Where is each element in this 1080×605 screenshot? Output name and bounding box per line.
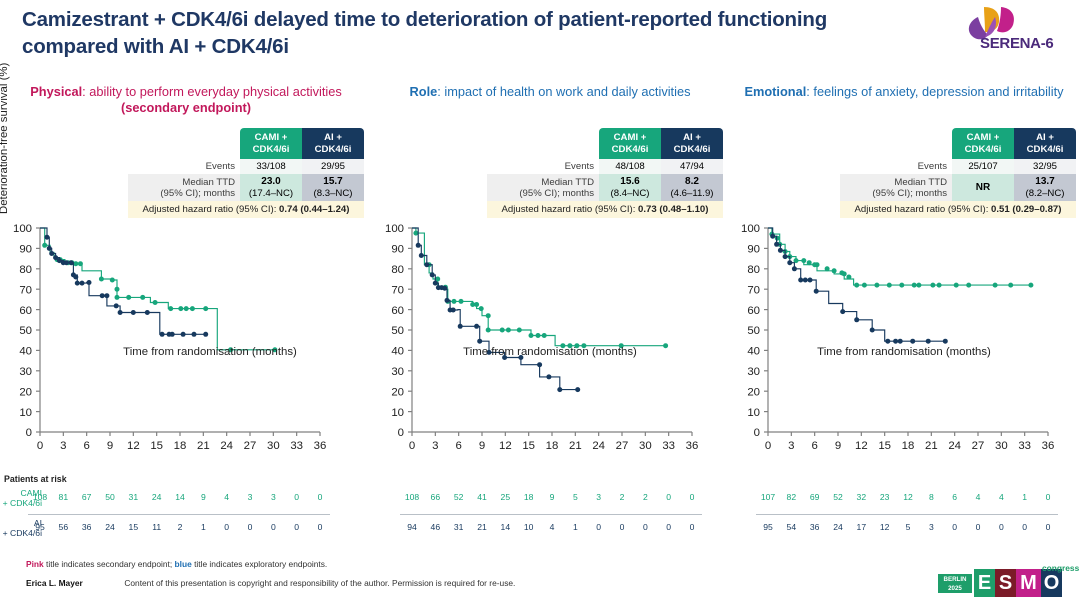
censor-marker (575, 387, 580, 392)
footnote-mid: title indicates secondary endpoint; (46, 559, 172, 569)
x-tick-label: 27 (244, 440, 257, 452)
risk-value-ai: 4 (541, 522, 563, 532)
footer-copyright-row: Erica L. Mayer Content of this presentat… (26, 578, 515, 588)
risk-table-emotional: 1078269523223128644109554362417125300000 (728, 488, 1080, 548)
risk-value-ai: 0 (611, 522, 633, 532)
censor-marker (416, 243, 421, 248)
x-tick-label: 3 (788, 440, 794, 452)
copyright-text: Content of this presentation is copyrigh… (124, 578, 515, 588)
risk-value-cami: 18 (518, 492, 540, 502)
risk-value-ai: 15 (122, 522, 144, 532)
risk-table-role: 108665241251895322009446312114104100000 (372, 488, 728, 548)
risk-value-cami: 0 (681, 492, 703, 502)
y-tick-label: 20 (391, 386, 404, 398)
risk-value-ai: 36 (76, 522, 98, 532)
hazard-ratio-cell: Adjusted hazard ratio (95% CI): 0.51 (0.… (840, 201, 1076, 218)
censor-marker (73, 261, 78, 266)
censor-marker (131, 310, 136, 315)
x-axis-label: Time from randomisation (months) (372, 346, 728, 358)
censor-marker (899, 283, 904, 288)
risk-value-ai: 0 (634, 522, 656, 532)
risk-value-cami: 3 (588, 492, 610, 502)
risk-value-ai: 0 (286, 522, 308, 532)
censor-marker (807, 260, 812, 265)
risk-value-ai: 24 (827, 522, 849, 532)
censor-marker (787, 260, 792, 265)
risk-value-cami: 41 (471, 492, 493, 502)
censor-marker (874, 283, 879, 288)
panel-heading-lead: Emotional (744, 84, 806, 99)
censor-marker (887, 283, 892, 288)
median-ttd-value-cami: 15.6(8.4–NC) (599, 174, 661, 201)
censor-marker (451, 308, 456, 313)
censor-marker (808, 278, 813, 283)
footnote-tail: title indicates exploratory endpoints. (194, 559, 327, 569)
censor-marker (479, 306, 484, 311)
risk-value-cami: 32 (850, 492, 872, 502)
y-tick-label: 10 (391, 407, 404, 419)
censor-marker (458, 324, 463, 329)
censor-marker (546, 374, 551, 379)
censor-marker (1028, 283, 1033, 288)
risk-value-cami: 50 (99, 492, 121, 502)
km-series-ai (40, 228, 208, 337)
risk-value-ai: 1 (192, 522, 214, 532)
arm-header-ai: AI +CDK4/6i (1014, 128, 1076, 159)
censor-marker (893, 339, 898, 344)
risk-table-divider (28, 514, 330, 515)
censor-marker (477, 339, 482, 344)
risk-value-cami: 4 (990, 492, 1012, 502)
events-value-ai: 32/95 (1014, 159, 1076, 174)
y-tick-label: 50 (747, 325, 760, 337)
arm-header-ai: AI +CDK4/6i (661, 128, 723, 159)
y-tick-label: 80 (747, 264, 760, 276)
censor-marker (115, 295, 120, 300)
risk-value-ai: 54 (780, 522, 802, 532)
x-tick-label: 24 (948, 440, 961, 452)
risk-value-cami: 3 (239, 492, 261, 502)
axis-lines (412, 228, 692, 432)
median-ttd-label: Median TTD(95% CI); months (840, 174, 952, 201)
risk-value-ai: 21 (471, 522, 493, 532)
stats-table-emotional: CAMI +CDK4/6i AI +CDK4/6i Events 25/107 … (840, 128, 1076, 218)
censor-marker (854, 283, 859, 288)
censor-marker (783, 254, 788, 259)
censor-marker (798, 278, 803, 283)
x-tick-label: 36 (1042, 440, 1055, 452)
slide-root: Camizestrant + CDK4/6i delayed time to d… (0, 0, 1080, 605)
censor-marker (42, 243, 47, 248)
censor-marker (459, 299, 464, 304)
y-tick-label: 50 (391, 325, 404, 337)
km-curve (412, 228, 578, 390)
risk-value-ai: 24 (99, 522, 121, 532)
censor-marker (778, 248, 783, 253)
km-curve (40, 228, 275, 350)
censor-marker (118, 310, 123, 315)
censor-marker (537, 362, 542, 367)
x-tick-label: 21 (569, 440, 582, 452)
x-tick-label: 9 (107, 440, 113, 452)
risk-value-ai: 31 (448, 522, 470, 532)
spacer-cell (128, 128, 240, 159)
risk-value-cami: 8 (920, 492, 942, 502)
risk-value-cami: 52 (448, 492, 470, 502)
censor-marker (916, 283, 921, 288)
esmo-letter-e: E (974, 569, 995, 597)
censor-marker (115, 287, 120, 292)
risk-value-cami: 107 (757, 492, 779, 502)
x-tick-label: 12 (855, 440, 868, 452)
censor-marker (100, 293, 105, 298)
risk-value-cami: 67 (76, 492, 98, 502)
censor-marker (862, 283, 867, 288)
axis-lines (768, 228, 1048, 432)
y-tick-label: 70 (391, 284, 404, 296)
hazard-ratio-row: Adjusted hazard ratio (95% CI): 0.74 (0.… (128, 201, 364, 218)
panel-role: Role: impact of health on work and daily… (372, 84, 728, 554)
censor-marker (64, 260, 69, 265)
censor-marker (926, 339, 931, 344)
hazard-ratio-row: Adjusted hazard ratio (95% CI): 0.73 (0.… (487, 201, 723, 218)
risk-value-ai: 94 (401, 522, 423, 532)
risk-value-ai: 10 (518, 522, 540, 532)
y-tick-label: 90 (747, 244, 760, 256)
esmo-letter-s: S (995, 569, 1016, 597)
risk-value-cami: 12 (897, 492, 919, 502)
risk-value-cami: 69 (804, 492, 826, 502)
panel-heading-rest: : impact of health on work and daily act… (437, 84, 690, 99)
risk-value-cami: 52 (827, 492, 849, 502)
censor-marker (160, 332, 165, 337)
y-tick-label: 20 (19, 386, 32, 398)
y-axis-label: Deterioration-free survival (%) (0, 63, 10, 214)
median-ttd-label: Median TTD(95% CI); months (128, 174, 240, 201)
risk-value-cami: 2 (611, 492, 633, 502)
risk-value-ai: 0 (1014, 522, 1036, 532)
censor-marker (126, 295, 131, 300)
y-tick-label: 100 (385, 223, 404, 235)
censor-marker (993, 283, 998, 288)
events-row: Events 25/107 32/95 (840, 159, 1076, 174)
events-value-ai: 47/94 (661, 159, 723, 174)
risk-value-ai: 1 (564, 522, 586, 532)
censor-marker (424, 262, 429, 267)
censor-marker (486, 313, 491, 318)
censor-marker (842, 271, 847, 276)
arm-header-cami: CAMI +CDK4/6i (240, 128, 302, 159)
footnote-pink-word: Pink (26, 559, 44, 569)
censor-marker (474, 302, 479, 307)
panel-emotional: Emotional: feelings of anxiety, depressi… (728, 84, 1080, 554)
risk-value-cami: 4 (216, 492, 238, 502)
median-ttd-value-cami: NR (952, 174, 1014, 201)
y-tick-label: 100 (13, 223, 32, 235)
y-tick-label: 10 (19, 407, 32, 419)
risk-value-cami: 81 (52, 492, 74, 502)
risk-value-cami: 1 (1014, 492, 1036, 502)
panel-heading-role: Role: impact of health on work and daily… (372, 84, 728, 100)
censor-marker (73, 275, 78, 280)
risk-value-ai: 17 (850, 522, 872, 532)
risk-value-ai: 0 (990, 522, 1012, 532)
axis-lines (40, 228, 320, 432)
panel-heading-emphasis: (secondary endpoint) (121, 100, 251, 115)
x-tick-label: 33 (662, 440, 675, 452)
events-label: Events (840, 159, 952, 174)
censor-marker (170, 332, 175, 337)
censor-marker (517, 328, 522, 333)
risk-table-divider (756, 514, 1058, 515)
censor-marker (47, 246, 52, 251)
events-value-cami: 25/107 (952, 159, 1014, 174)
x-tick-label: 0 (765, 440, 771, 452)
x-axis-label: Time from randomisation (months) (0, 346, 396, 358)
censor-marker (529, 333, 534, 338)
censor-marker (190, 306, 195, 311)
y-tick-label: 30 (391, 366, 404, 378)
hazard-ratio-cell: Adjusted hazard ratio (95% CI): 0.73 (0.… (487, 201, 723, 218)
x-tick-label: 21 (197, 440, 210, 452)
censor-marker (1008, 283, 1013, 288)
spacer-cell (487, 128, 599, 159)
censor-marker (912, 283, 917, 288)
risk-value-ai: 0 (681, 522, 703, 532)
censor-marker (846, 275, 851, 280)
censor-marker (832, 268, 837, 273)
risk-value-cami: 2 (634, 492, 656, 502)
censor-marker (815, 262, 820, 267)
y-tick-label: 60 (747, 305, 760, 317)
risk-table-physical: CAMI+ CDK4/6iAI+ CDK4/6i1088167503124149… (0, 488, 372, 548)
median-ttd-row: Median TTD(95% CI); months NR 13.7(8.2–N… (840, 174, 1076, 201)
y-tick-label: 30 (19, 366, 32, 378)
y-tick-label: 80 (19, 264, 32, 276)
risk-value-cami: 24 (146, 492, 168, 502)
median-ttd-value-ai: 8.2(4.6–11.9) (661, 174, 723, 201)
censor-marker (937, 283, 942, 288)
spacer-cell (840, 128, 952, 159)
risk-value-ai: 5 (897, 522, 919, 532)
y-tick-label: 60 (19, 305, 32, 317)
censor-marker (445, 298, 450, 303)
risk-value-ai: 0 (239, 522, 261, 532)
censor-marker (203, 306, 208, 311)
events-label: Events (128, 159, 240, 174)
censor-marker (930, 283, 935, 288)
censor-marker (898, 339, 903, 344)
censor-marker (75, 281, 80, 286)
risk-value-ai: 95 (29, 522, 51, 532)
censor-marker (168, 306, 173, 311)
risk-value-ai: 11 (146, 522, 168, 532)
median-ttd-row: Median TTD(95% CI); months 15.6(8.4–NC) … (487, 174, 723, 201)
panel-heading-rest: : ability to perform everyday physical a… (82, 84, 342, 99)
censor-marker (114, 303, 119, 308)
x-tick-label: 24 (592, 440, 605, 452)
y-tick-label: 0 (754, 427, 760, 439)
km-curve (40, 228, 206, 334)
x-tick-label: 15 (150, 440, 163, 452)
risk-value-ai: 0 (944, 522, 966, 532)
panel-heading-lead: Physical (30, 84, 82, 99)
footnote-blue-word: blue (175, 559, 192, 569)
risk-value-ai: 56 (52, 522, 74, 532)
censor-marker (474, 324, 479, 329)
censor-marker (966, 283, 971, 288)
censor-marker (803, 278, 808, 283)
censor-marker (184, 306, 189, 311)
y-tick-label: 100 (741, 223, 760, 235)
censor-marker (954, 283, 959, 288)
risk-value-cami: 0 (309, 492, 331, 502)
censor-marker (814, 289, 819, 294)
y-tick-label: 90 (19, 244, 32, 256)
x-tick-label: 12 (499, 440, 512, 452)
esmo-letter-m: M (1016, 569, 1041, 597)
x-tick-label: 30 (639, 440, 652, 452)
events-value-cami: 33/108 (240, 159, 302, 174)
arm-header-ai: AI +CDK4/6i (302, 128, 364, 159)
censor-marker (542, 333, 547, 338)
page-title: Camizestrant + CDK4/6i delayed time to d… (22, 6, 922, 60)
censor-marker (840, 309, 845, 314)
censor-marker (870, 328, 875, 333)
risk-value-cami: 23 (874, 492, 896, 502)
x-tick-label: 9 (479, 440, 485, 452)
events-row: Events 33/108 29/95 (128, 159, 364, 174)
censor-marker (430, 272, 435, 277)
risk-value-cami: 25 (494, 492, 516, 502)
censor-marker (442, 286, 447, 291)
risk-value-cami: 82 (780, 492, 802, 502)
risk-table-divider (400, 514, 702, 515)
risk-value-ai: 14 (494, 522, 516, 532)
esmo-city-badge: BERLIN 2025 (938, 574, 972, 593)
risk-value-ai: 3 (920, 522, 942, 532)
censor-marker (770, 234, 775, 239)
x-tick-label: 36 (314, 440, 327, 452)
censor-marker (910, 339, 915, 344)
censor-marker (500, 328, 505, 333)
x-tick-label: 6 (83, 440, 89, 452)
censor-marker (943, 339, 948, 344)
censor-marker (885, 339, 890, 344)
hazard-ratio-cell: Adjusted hazard ratio (95% CI): 0.74 (0.… (128, 201, 364, 218)
risk-value-cami: 14 (169, 492, 191, 502)
panel-heading-emotional: Emotional: feelings of anxiety, depressi… (728, 84, 1080, 100)
censor-marker (49, 251, 54, 256)
median-ttd-value-cami: 23.0(17.4–NC) (240, 174, 302, 201)
arm-header-cami: CAMI +CDK4/6i (952, 128, 1014, 159)
risk-value-ai: 46 (424, 522, 446, 532)
censor-marker (99, 277, 104, 282)
risk-value-cami: 108 (401, 492, 423, 502)
risk-value-ai: 0 (262, 522, 284, 532)
stats-table-physical: CAMI +CDK4/6i AI +CDK4/6i Events 33/108 … (128, 128, 364, 218)
x-tick-label: 21 (925, 440, 938, 452)
arm-header-cami: CAMI +CDK4/6i (599, 128, 661, 159)
patients-at-risk-label: Patients at risk (4, 474, 67, 484)
panel-heading-lead: Role (410, 84, 438, 99)
censor-marker (178, 306, 183, 311)
censor-marker (203, 332, 208, 337)
risk-value-ai: 12 (874, 522, 896, 532)
x-tick-label: 15 (878, 440, 891, 452)
risk-value-cami: 0 (658, 492, 680, 502)
risk-value-cami: 66 (424, 492, 446, 502)
serena6-logo-text: SERENA-6 (980, 35, 1053, 52)
km-series-cami (40, 228, 277, 352)
panel-heading-rest: : feelings of anxiety, depression and ir… (806, 84, 1063, 99)
censor-marker (801, 258, 806, 263)
esmo-congress-word: congress (1042, 563, 1079, 573)
hazard-ratio-row: Adjusted hazard ratio (95% CI): 0.51 (0.… (840, 201, 1076, 218)
table-header-row: CAMI +CDK4/6i AI +CDK4/6i (128, 128, 364, 159)
y-tick-label: 0 (398, 427, 404, 439)
y-tick-label: 70 (19, 284, 32, 296)
censor-marker (854, 317, 859, 322)
x-axis-label: Time from randomisation (months) (728, 346, 1080, 358)
risk-value-ai: 0 (967, 522, 989, 532)
risk-value-ai: 0 (588, 522, 610, 532)
risk-value-ai: 0 (309, 522, 331, 532)
y-tick-label: 10 (747, 407, 760, 419)
y-tick-label: 60 (391, 305, 404, 317)
x-tick-label: 3 (432, 440, 438, 452)
risk-value-cami: 6 (944, 492, 966, 502)
risk-value-ai: 95 (757, 522, 779, 532)
y-tick-label: 70 (747, 284, 760, 296)
footnote-endpoints: Pink title indicates secondary endpoint;… (26, 559, 327, 569)
table-header-row: CAMI +CDK4/6i AI +CDK4/6i (840, 128, 1076, 159)
x-tick-label: 3 (60, 440, 66, 452)
esmo-letter-o: O (1041, 569, 1062, 597)
events-row: Events 48/108 47/94 (487, 159, 723, 174)
risk-value-cami: 9 (541, 492, 563, 502)
table-header-row: CAMI +CDK4/6i AI +CDK4/6i (487, 128, 723, 159)
median-ttd-value-ai: 15.7(8.3–NC) (302, 174, 364, 201)
y-tick-label: 0 (26, 427, 32, 439)
x-tick-label: 36 (686, 440, 699, 452)
censor-marker (104, 293, 109, 298)
censor-marker (774, 242, 779, 247)
censor-marker (506, 328, 511, 333)
risk-value-ai: 36 (804, 522, 826, 532)
risk-value-cami: 3 (262, 492, 284, 502)
x-tick-label: 12 (127, 440, 140, 452)
risk-value-cami: 4 (967, 492, 989, 502)
censor-marker (536, 333, 541, 338)
censor-marker (825, 266, 830, 271)
events-label: Events (487, 159, 599, 174)
events-value-ai: 29/95 (302, 159, 364, 174)
censor-marker (419, 253, 424, 258)
censor-marker (192, 332, 197, 337)
median-ttd-label: Median TTD(95% CI); months (487, 174, 599, 201)
censor-marker (433, 281, 438, 286)
events-value-cami: 48/108 (599, 159, 661, 174)
x-tick-label: 30 (267, 440, 280, 452)
esmo-year: 2025 (938, 584, 972, 593)
km-series-cami (412, 228, 668, 348)
y-tick-label: 50 (19, 325, 32, 337)
km-series-cami (768, 228, 1033, 288)
censor-marker (80, 281, 85, 286)
risk-value-cami: 108 (29, 492, 51, 502)
censor-marker (87, 280, 92, 285)
